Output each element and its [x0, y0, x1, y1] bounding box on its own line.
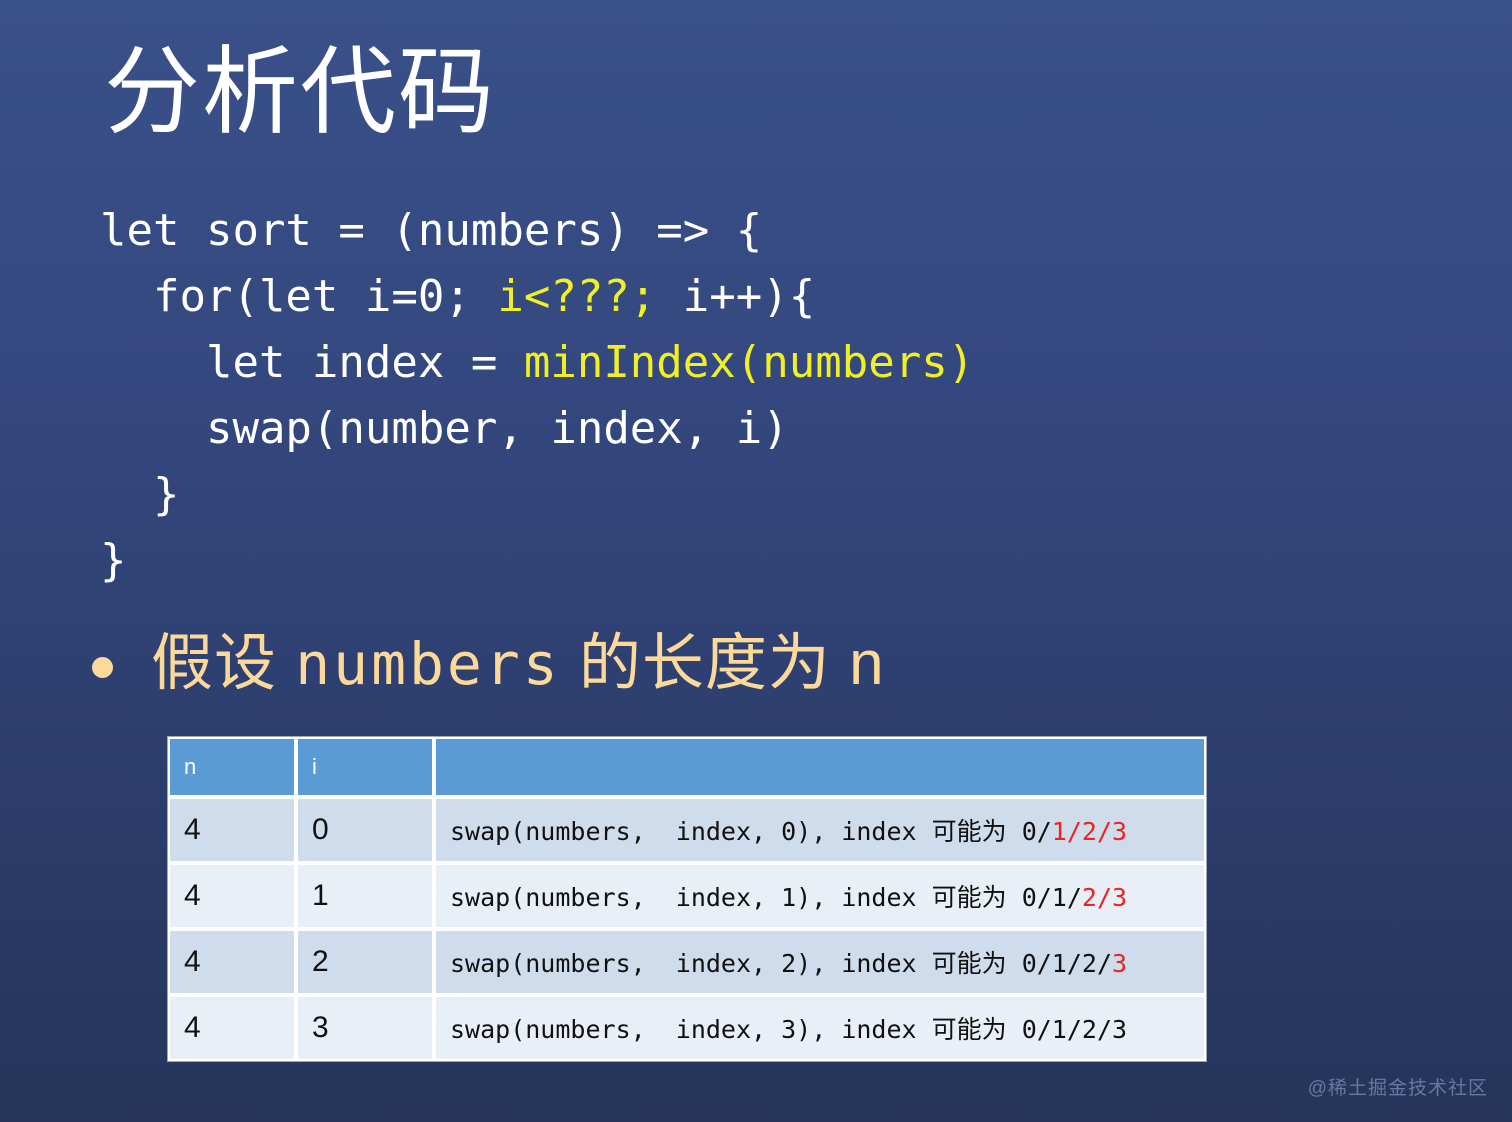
description-text: swap(numbers, index, 3), index 可能为 0/1/2… — [450, 1015, 1127, 1044]
cell-description: swap(numbers, index, 2), index 可能为 0/1/2… — [434, 929, 1206, 995]
code-token: i++){ — [656, 271, 815, 322]
cell-description: swap(numbers, index, 1), index 可能为 0/1/2… — [434, 863, 1206, 929]
table-row: 42swap(numbers, index, 2), index 可能为 0/1… — [168, 929, 1206, 995]
description-highlight: 3 — [1112, 949, 1127, 978]
bullet-item-label: 假设 numbers 的长度为 n — [151, 622, 885, 706]
code-token: } — [100, 535, 127, 586]
code-line: let sort = (numbers) => { — [100, 198, 974, 264]
code-line: } — [100, 528, 974, 594]
bullet-text-prefix: 假设 — [151, 629, 295, 698]
watermark: @稀土掘金技术社区 — [1308, 1073, 1488, 1100]
analysis-table: n i 40swap(numbers, index, 0), index 可能为… — [168, 737, 1206, 1061]
cell-i: 3 — [296, 995, 434, 1061]
table-row: 41swap(numbers, index, 1), index 可能为 0/1… — [168, 863, 1206, 929]
page-title: 分析代码 — [104, 36, 496, 149]
cell-i: 0 — [296, 797, 434, 863]
column-header-i: i — [296, 737, 434, 797]
column-header-n: n — [168, 737, 296, 797]
cell-i: 1 — [296, 863, 434, 929]
code-block: let sort = (numbers) => { for(let i=0; i… — [100, 198, 974, 594]
cell-i: 2 — [296, 929, 434, 995]
description-highlight: 2/3 — [1082, 883, 1127, 912]
table-body: 40swap(numbers, index, 0), index 可能为 0/1… — [168, 797, 1206, 1061]
column-header-description — [434, 737, 1206, 797]
table-row: 43swap(numbers, index, 3), index 可能为 0/1… — [168, 995, 1206, 1061]
code-token: for(let i=0; — [100, 271, 497, 322]
table-row: 40swap(numbers, index, 0), index 可能为 0/1… — [168, 797, 1206, 863]
cell-n: 4 — [168, 929, 296, 995]
code-token: swap(number, index, i) — [100, 403, 789, 454]
table-header-row: n i — [168, 737, 1206, 797]
bullet-dot-icon — [92, 657, 113, 678]
cell-n: 4 — [168, 797, 296, 863]
bullet-item: 假设 numbers 的长度为 n — [92, 622, 885, 706]
code-token: let index = — [100, 337, 524, 388]
bullet-text-variable: numbers — [295, 630, 560, 698]
description-text: swap(numbers, index, 0), index 可能为 0/ — [450, 817, 1052, 846]
code-token-highlighted: i<???; — [497, 271, 656, 322]
code-line: } — [100, 462, 974, 528]
description-text: swap(numbers, index, 2), index 可能为 0/1/2… — [450, 949, 1112, 978]
code-line: let index = minIndex(numbers) — [100, 330, 974, 396]
slide-canvas: 分析代码 let sort = (numbers) => { for(let i… — [0, 0, 1512, 1122]
cell-n: 4 — [168, 863, 296, 929]
description-text: swap(numbers, index, 1), index 可能为 0/1/ — [450, 883, 1082, 912]
cell-n: 4 — [168, 995, 296, 1061]
description-highlight: 1/2/3 — [1052, 817, 1127, 846]
code-token-highlighted: minIndex(numbers) — [524, 337, 974, 388]
cell-description: swap(numbers, index, 3), index 可能为 0/1/2… — [434, 995, 1206, 1061]
cell-description: swap(numbers, index, 0), index 可能为 0/1/2… — [434, 797, 1206, 863]
code-line: for(let i=0; i<???; i++){ — [100, 264, 974, 330]
code-token: let sort = (numbers) => { — [100, 205, 762, 256]
code-line: swap(number, index, i) — [100, 396, 974, 462]
bullet-text-suffix: 的长度为 n — [561, 629, 885, 698]
code-token: } — [100, 469, 179, 520]
table-header: n i — [168, 737, 1206, 797]
